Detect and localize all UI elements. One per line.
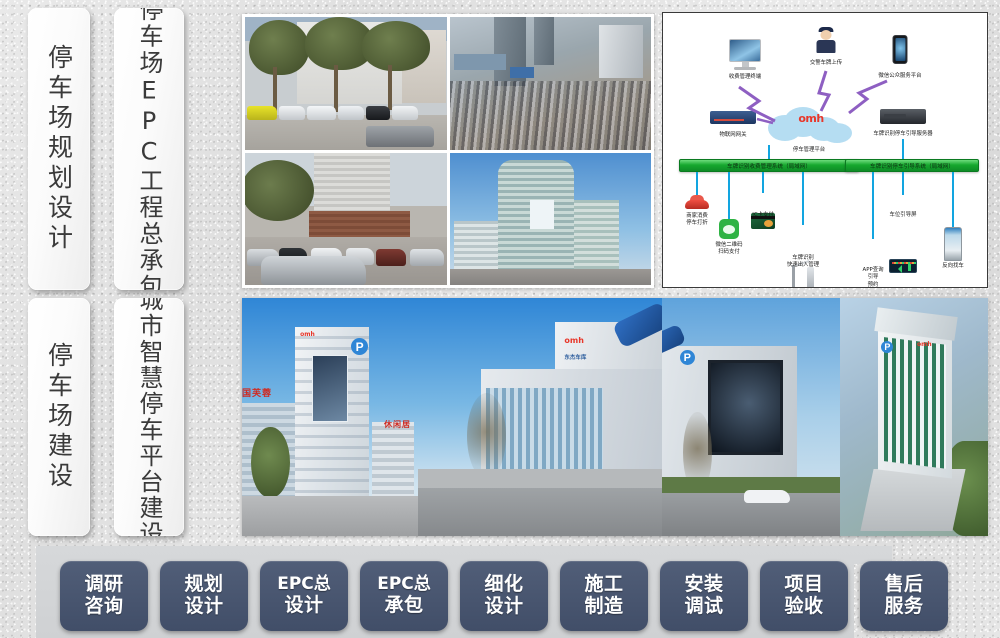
car-shape xyxy=(307,106,335,121)
step-line-1: 细化 xyxy=(484,574,523,596)
tree-shape xyxy=(249,20,309,76)
step-line-2: 验收 xyxy=(784,596,823,618)
step-epc-contract[interactable]: EPC总 承包 xyxy=(360,561,448,631)
omh-logo: omh xyxy=(300,331,315,338)
item-label-merchant-discount: 商家消费停车打折 xyxy=(686,213,708,228)
car-shape xyxy=(366,126,435,147)
road-shape xyxy=(450,269,652,285)
poster-canvas: 停车场规划设计 停车场EPC工程总承包 停车场建设 城市智慧停车平台建设 xyxy=(0,0,1000,638)
merchant-discount-car-icon xyxy=(685,195,709,210)
roof-shape xyxy=(454,54,506,70)
item-label-ic-card-pay: IC卡支付 xyxy=(752,212,774,219)
car-shape xyxy=(744,490,790,503)
step-line-1: 项目 xyxy=(784,574,823,596)
photo-grid xyxy=(242,14,654,288)
reverse-find-car-kiosk-icon xyxy=(944,227,962,261)
step-acceptance[interactable]: 项目 验收 xyxy=(760,561,848,631)
space-guide-screen-icon xyxy=(889,259,917,273)
tower-shape xyxy=(534,17,554,65)
road-shape xyxy=(418,488,662,536)
step-epc-design[interactable]: EPC总 设计 xyxy=(260,561,348,631)
billboard-shape xyxy=(312,355,347,422)
ground-shape xyxy=(242,496,418,536)
plaza-shape xyxy=(860,469,965,531)
step-line-2: 咨询 xyxy=(84,596,123,618)
step-line-1: EPC总 xyxy=(377,575,431,595)
connector-lines xyxy=(663,13,988,288)
wechat-qr-icon xyxy=(719,219,739,239)
step-line-2: 设计 xyxy=(284,595,323,617)
sidebar-card-parking-epc-contract[interactable]: 停车场EPC工程总承包 xyxy=(114,8,184,290)
car-shape xyxy=(410,249,444,266)
car-shape xyxy=(279,106,305,121)
step-planning[interactable]: 规划 设计 xyxy=(160,561,248,631)
tree-trunk xyxy=(388,65,392,110)
car-shape xyxy=(366,106,390,121)
render-garage-billboard: P xyxy=(662,298,840,536)
tree-shape xyxy=(251,427,290,498)
car-shape xyxy=(247,106,277,121)
step-line-1: EPC总 xyxy=(277,575,331,595)
step-line-1: 安装 xyxy=(684,574,723,596)
item-label-space-guide-screen: 车位引导屏 xyxy=(890,212,917,219)
car-shape xyxy=(261,256,366,285)
step-line-2: 服务 xyxy=(884,596,923,618)
omh-logo: omh xyxy=(917,341,932,348)
tower-shape xyxy=(599,25,643,78)
building-shape xyxy=(574,200,618,274)
step-line-1: 规划 xyxy=(184,574,223,596)
tree-shape xyxy=(362,21,431,71)
sidebar-card-label: 停车场规划设计 xyxy=(47,44,72,254)
step-line-2: 制造 xyxy=(584,596,623,618)
photo-aerial-parking-lot xyxy=(450,17,652,150)
step-install[interactable]: 安装 调试 xyxy=(660,561,748,631)
tower-facade-stripes xyxy=(884,337,946,468)
render-garage-frontage: omh 东杰车库 xyxy=(418,298,662,536)
car-shape xyxy=(338,106,364,121)
building-sign xyxy=(530,200,554,229)
shop-sign-right: 休闲居 xyxy=(384,419,411,430)
step-detail[interactable]: 细化 设计 xyxy=(460,561,548,631)
sidebar-card-label: 停车场建设 xyxy=(47,342,72,492)
step-line-2: 设计 xyxy=(484,596,523,618)
parking-rows xyxy=(450,81,652,150)
render-aerial-tower: P omh xyxy=(840,298,988,536)
sidebar-card-smart-city-platform[interactable]: 城市智慧停车平台建设 xyxy=(114,298,184,536)
omh-logo: omh xyxy=(564,336,584,345)
car-shape xyxy=(392,106,418,121)
step-line-2: 承包 xyxy=(384,595,423,617)
process-step-row: 调研 咨询 规划 设计 EPC总 设计 EPC总 承包 细化 设计 施工 制造 … xyxy=(60,561,950,631)
render-tower-billboard: P omh 国芙蓉 休闲居 xyxy=(242,298,418,536)
car-shape xyxy=(376,249,406,266)
billboard-shape xyxy=(708,360,783,455)
sidebar-card-label: 城市智慧停车平台建设 xyxy=(137,298,161,536)
tree-shape xyxy=(467,393,506,479)
step-line-2: 调试 xyxy=(684,596,723,618)
tree-trunk xyxy=(273,67,277,112)
step-line-2: 设计 xyxy=(184,596,223,618)
system-architecture-diagram: omh 停车管理平台 收费管理终端 交警车牌上传 微信公众服务平台 物联网网关 … xyxy=(662,12,988,288)
rendering-strip: P omh 国芙蓉 休闲居 omh 东杰车库 P xyxy=(242,298,988,536)
omh-sub-label: 东杰车库 xyxy=(564,353,586,361)
item-label-app-query-guide: APP查询引导预约 xyxy=(863,267,884,288)
photo-brick-building-lot xyxy=(245,153,447,286)
shop-sign-left: 国芙蓉 xyxy=(242,386,272,399)
step-line-1: 施工 xyxy=(584,574,623,596)
step-line-1: 调研 xyxy=(84,574,123,596)
step-survey[interactable]: 调研 咨询 xyxy=(60,561,148,631)
roof-shape xyxy=(510,67,534,78)
step-manufacture[interactable]: 施工 制造 xyxy=(560,561,648,631)
item-label-wechat-qr-pay: 微信二维码扫码支付 xyxy=(716,242,743,257)
photo-surface-lot-trees xyxy=(245,17,447,150)
building-shape xyxy=(454,221,498,274)
sidebar-card-parking-planning-design[interactable]: 停车场规划设计 xyxy=(28,8,90,290)
sidebar-card-label: 停车场EPC工程总承包 xyxy=(137,8,161,290)
item-label-reverse-find-car: 反向找车 xyxy=(942,263,964,270)
item-label-plate-fast-access: 车牌识别快速出入管理 xyxy=(787,255,819,270)
photo-glass-office-tower xyxy=(450,153,652,286)
tree-shape xyxy=(245,160,314,221)
step-aftersales[interactable]: 售后 服务 xyxy=(860,561,948,631)
sidebar-card-parking-construction[interactable]: 停车场建设 xyxy=(28,298,90,536)
tree-trunk xyxy=(334,65,338,113)
step-line-1: 售后 xyxy=(884,574,923,596)
